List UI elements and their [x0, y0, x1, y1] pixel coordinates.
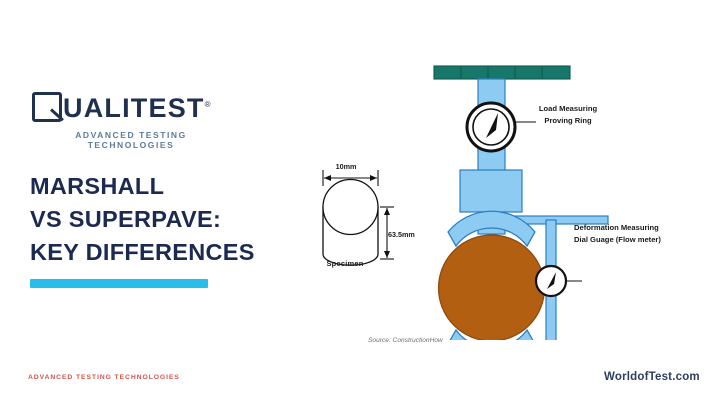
proving-ring-annotation: Load Measuring Proving Ring — [518, 103, 618, 126]
square-q-icon — [32, 92, 62, 122]
title-line-3: KEY DIFFERENCES — [30, 236, 330, 269]
dial-gauge-annotation-line-2: Dial Guage (Flow meter) — [574, 234, 714, 246]
logo-wordmark: UALITEST® — [63, 90, 212, 123]
title-line-2: VS SUPERPAVE: — [30, 203, 330, 236]
load-block — [460, 170, 522, 212]
dial-gauge-annotation: Deformation Measuring Dial Guage (Flow m… — [574, 222, 714, 245]
title-accent-bar — [30, 279, 208, 288]
footer-website: WorldofTest.com — [604, 371, 700, 383]
dial-gauge-annotation-line-1: Deformation Measuring — [574, 222, 714, 234]
slide-canvas: UALITEST® ADVANCED TESTING TECHNOLOGIES … — [0, 0, 720, 404]
top-crosshead — [434, 66, 570, 79]
registered-trademark-icon: ® — [205, 100, 212, 109]
title-line-1: MARSHALL — [30, 170, 330, 203]
page-title: MARSHALL VS SUPERPAVE: KEY DIFFERENCES — [30, 170, 330, 269]
proving-ring-annotation-line-2: Proving Ring — [518, 115, 618, 127]
proving-ring-annotation-line-1: Load Measuring — [518, 103, 618, 115]
dial-gauge — [536, 266, 566, 296]
logo-lockup: UALITEST® — [32, 90, 232, 123]
qualitest-logo: UALITEST® ADVANCED TESTING TECHNOLOGIES — [32, 90, 232, 150]
source-credit: Source: ConstructionHow — [368, 337, 443, 344]
marshall-apparatus-diagram — [360, 50, 630, 340]
arrow-left-icon — [324, 175, 331, 181]
asphalt-specimen — [439, 235, 545, 340]
proving-ring-gauge — [467, 103, 515, 151]
footer-tagline: ADVANCED TESTING TECHNOLOGIES — [28, 374, 180, 381]
logo-tagline: ADVANCED TESTING TECHNOLOGIES — [32, 130, 230, 150]
